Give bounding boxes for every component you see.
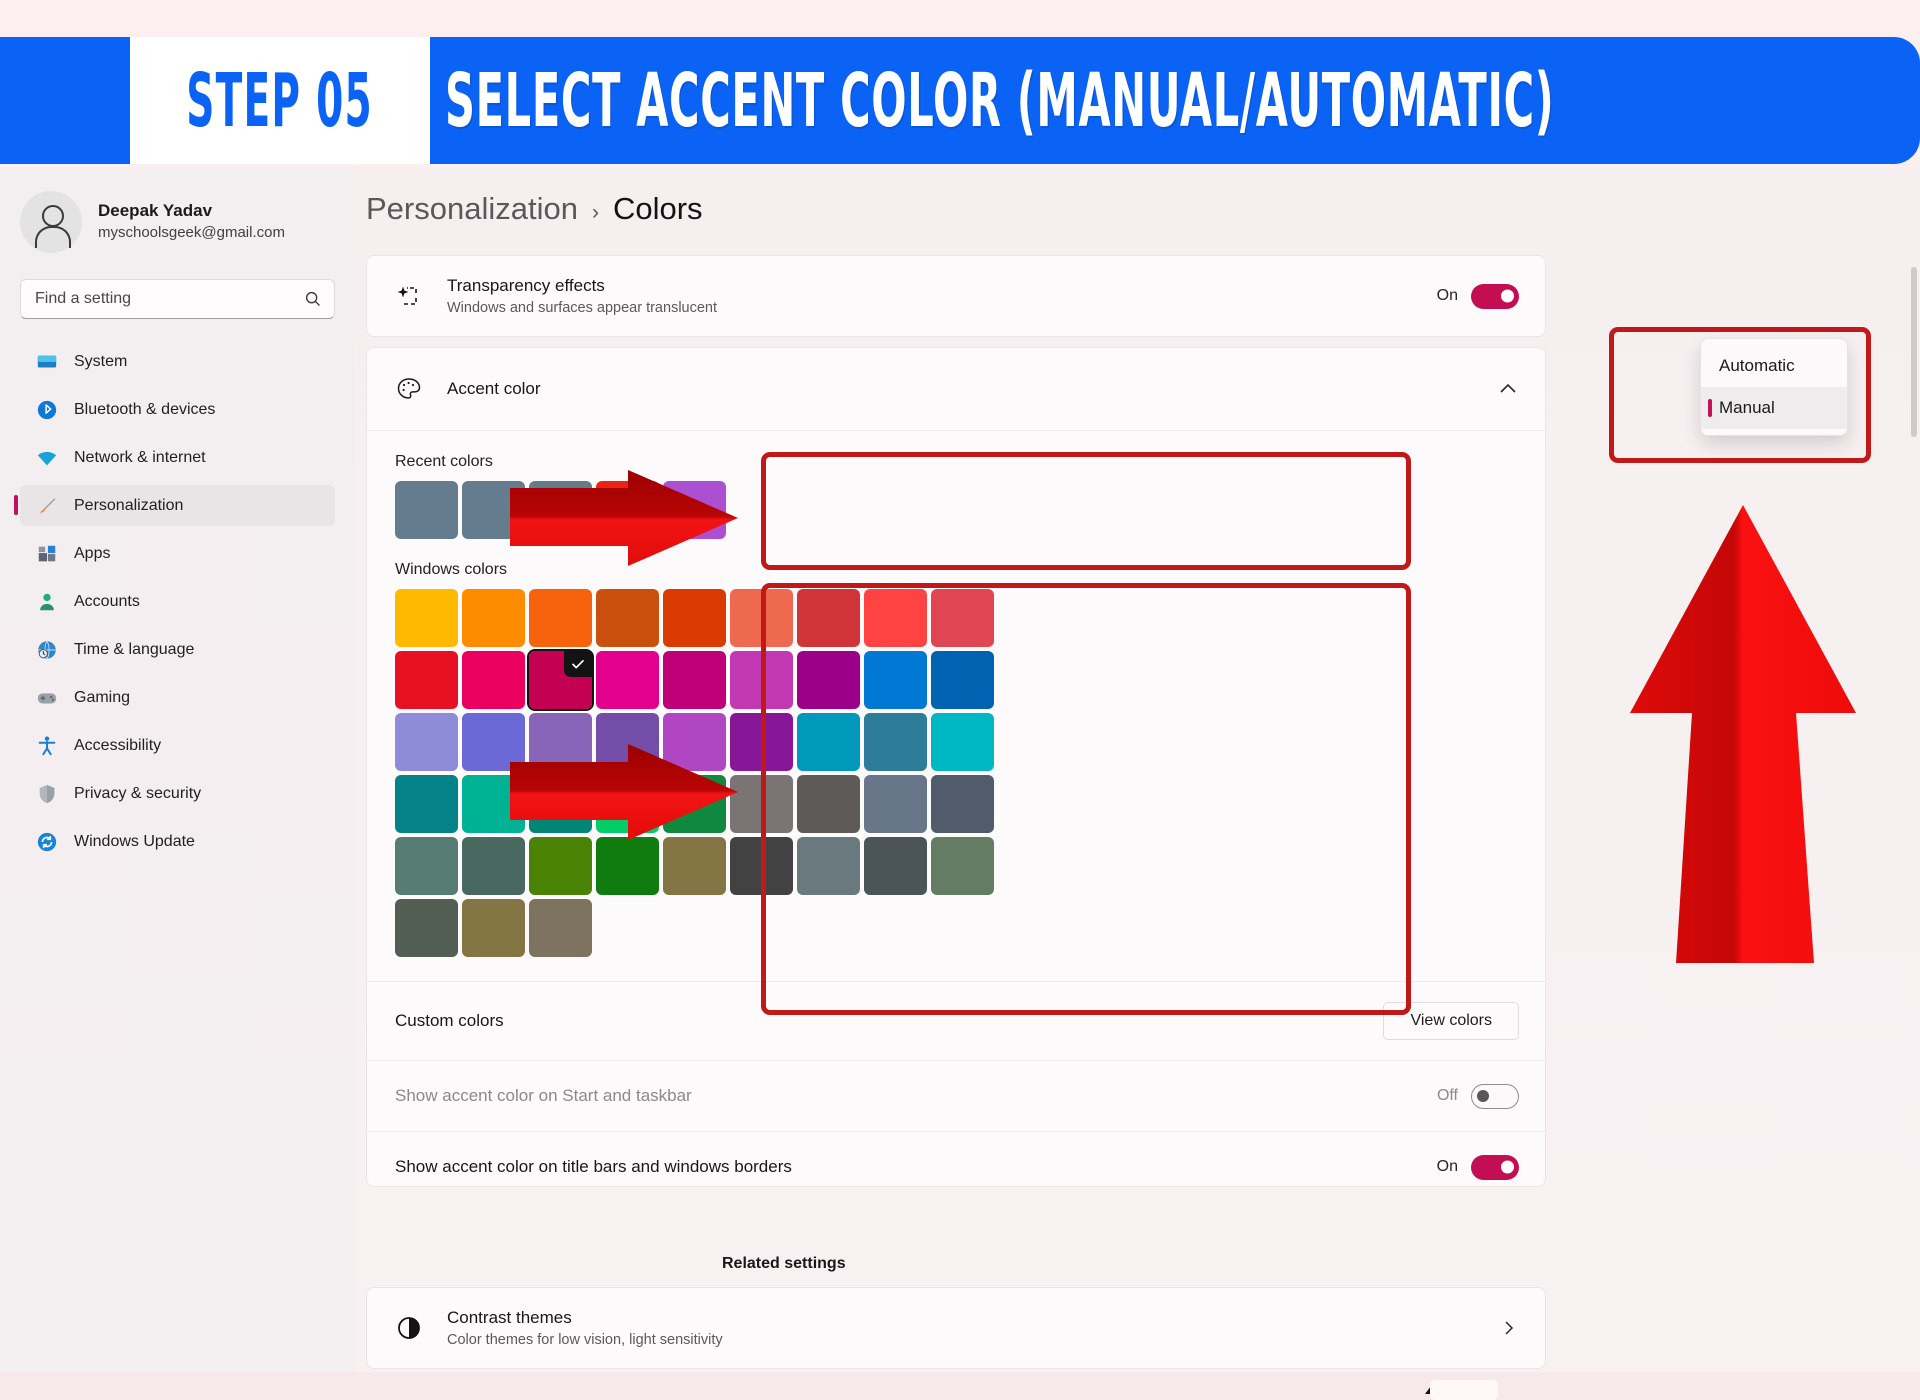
windows-color-swatch[interactable]	[864, 589, 927, 647]
avatar	[20, 191, 82, 253]
windows-color-swatch[interactable]	[931, 713, 994, 771]
bluetooth-icon	[36, 399, 58, 421]
sparkle-frame-icon	[395, 282, 423, 310]
windows-color-swatch[interactable]	[797, 651, 860, 709]
search-icon	[304, 290, 322, 308]
windows-color-swatch[interactable]	[797, 713, 860, 771]
windows-color-swatch[interactable]	[663, 589, 726, 647]
windows-color-swatch[interactable]	[529, 899, 592, 957]
wifi-icon	[36, 447, 58, 469]
scrollbar-thumb[interactable]	[1911, 267, 1917, 437]
gamepad-icon	[36, 687, 58, 709]
accent-color-title: Accent color	[447, 377, 1497, 401]
transparency-effects-row[interactable]: Transparency effects Windows and surface…	[367, 256, 1545, 336]
windows-color-swatch[interactable]	[797, 589, 860, 647]
contrast-themes-card[interactable]: Contrast themes Color themes for low vis…	[366, 1287, 1546, 1369]
contrast-themes-row[interactable]: Contrast themes Color themes for low vis…	[367, 1288, 1545, 1368]
windows-color-swatch[interactable]	[931, 589, 994, 647]
windows-color-swatch[interactable]	[596, 651, 659, 709]
sidebar-item-windows-update[interactable]: Windows Update	[20, 821, 335, 862]
sidebar-nav: System Bluetooth & devices Network & int…	[0, 341, 355, 862]
windows-color-swatch[interactable]	[395, 837, 458, 895]
windows-color-swatch[interactable]	[395, 713, 458, 771]
windows-color-swatch[interactable]	[730, 837, 793, 895]
windows-color-swatch[interactable]	[730, 589, 793, 647]
windows-color-swatch[interactable]	[529, 837, 592, 895]
accessibility-icon	[36, 735, 58, 757]
start-taskbar-toggle[interactable]	[1471, 1084, 1519, 1109]
step-number-badge: STEP 05	[130, 37, 430, 164]
profile-email: myschoolsgeek@gmail.com	[98, 223, 285, 243]
breadcrumb-parent[interactable]: Personalization	[366, 191, 578, 227]
start-taskbar-row[interactable]: Show accent color on Start and taskbar O…	[367, 1061, 1545, 1131]
sidebar-item-label: Gaming	[74, 689, 130, 707]
sidebar-item-label: Personalization	[74, 497, 183, 515]
sidebar-item-apps[interactable]: Apps	[20, 533, 335, 574]
taskbar-strip	[0, 1372, 1920, 1400]
profile-name: Deepak Yadav	[98, 200, 285, 223]
title-bars-toggle[interactable]	[1471, 1155, 1519, 1180]
sidebar-item-label: System	[74, 353, 127, 371]
windows-color-swatch[interactable]	[462, 651, 525, 709]
windows-color-swatch[interactable]	[395, 775, 458, 833]
dropdown-option-automatic[interactable]: Automatic	[1701, 345, 1847, 387]
banner-title: SELECT ACCENT COLOR (MANUAL/AUTOMATIC)	[445, 37, 1920, 164]
windows-color-swatch[interactable]	[864, 775, 927, 833]
sidebar-item-label: Network & internet	[74, 449, 206, 467]
check-icon	[564, 651, 592, 677]
windows-color-swatch[interactable]	[395, 899, 458, 957]
sidebar-item-network-internet[interactable]: Network & internet	[20, 437, 335, 478]
sidebar-item-label: Privacy & security	[74, 785, 201, 803]
step-banner: STEP 05 SELECT ACCENT COLOR (MANUAL/AUTO…	[0, 37, 1920, 164]
sidebar-item-accounts[interactable]: Accounts	[20, 581, 335, 622]
annotation-arrow-recent-colors	[510, 468, 740, 568]
chevron-up-icon[interactable]	[1497, 378, 1519, 400]
windows-color-swatch[interactable]	[730, 651, 793, 709]
windows-color-swatch[interactable]	[931, 651, 994, 709]
paintbrush-icon	[36, 495, 58, 517]
sidebar-item-system[interactable]: System	[20, 341, 335, 382]
contrast-themes-title: Contrast themes	[447, 1306, 1499, 1330]
sidebar: Deepak Yadav myschoolsgeek@gmail.com Sys…	[0, 167, 355, 1372]
windows-color-swatch[interactable]	[931, 837, 994, 895]
related-settings-heading: Related settings	[722, 1255, 846, 1273]
apps-icon	[36, 543, 58, 565]
title-bars-label: Show accent color on title bars and wind…	[395, 1155, 1437, 1179]
windows-color-swatch[interactable]	[931, 775, 994, 833]
windows-color-swatch[interactable]	[663, 651, 726, 709]
view-colors-button[interactable]: View colors	[1383, 1002, 1519, 1040]
windows-color-swatch[interactable]	[395, 651, 458, 709]
sidebar-item-personalization[interactable]: Personalization	[20, 485, 335, 526]
sidebar-item-label: Accounts	[74, 593, 140, 611]
person-icon	[36, 591, 58, 613]
start-taskbar-toggle-label: Off	[1437, 1087, 1458, 1105]
shield-icon	[36, 783, 58, 805]
sidebar-item-label: Bluetooth & devices	[74, 401, 215, 419]
taskbar-pill[interactable]	[1430, 1380, 1498, 1400]
sidebar-item-privacy-security[interactable]: Privacy & security	[20, 773, 335, 814]
search-box[interactable]	[20, 279, 335, 319]
transparency-subtitle: Windows and surfaces appear translucent	[447, 298, 1437, 318]
user-profile[interactable]: Deepak Yadav myschoolsgeek@gmail.com	[0, 167, 355, 253]
step-number-label: STEP 05	[187, 57, 374, 143]
transparency-title: Transparency effects	[447, 274, 1437, 298]
custom-colors-label: Custom colors	[395, 1009, 1383, 1033]
transparency-toggle-label: On	[1437, 287, 1458, 305]
breadcrumb: Personalization › Colors	[366, 191, 703, 227]
windows-color-swatch[interactable]	[462, 589, 525, 647]
transparency-toggle[interactable]	[1471, 284, 1519, 309]
windows-color-swatch[interactable]	[797, 837, 860, 895]
title-bars-toggle-label: On	[1437, 1158, 1458, 1176]
palette-icon	[395, 375, 423, 403]
contrast-icon	[395, 1314, 423, 1342]
windows-color-swatch[interactable]	[529, 651, 592, 709]
windows-color-swatch[interactable]	[462, 899, 525, 957]
accent-mode-dropdown[interactable]: Automatic Manual	[1700, 338, 1848, 436]
windows-color-swatch[interactable]	[596, 837, 659, 895]
chevron-right-icon[interactable]	[1499, 1318, 1519, 1338]
search-input[interactable]	[35, 290, 304, 308]
custom-colors-row: Custom colors View colors	[367, 982, 1545, 1060]
windows-color-swatch[interactable]	[529, 589, 592, 647]
sidebar-item-accessibility[interactable]: Accessibility	[20, 725, 335, 766]
accent-color-row[interactable]: Accent color	[367, 348, 1545, 430]
update-icon	[36, 831, 58, 853]
recent-color-swatch[interactable]	[395, 481, 458, 539]
page-title: Colors	[613, 191, 703, 227]
windows-color-swatch[interactable]	[864, 713, 927, 771]
start-taskbar-label: Show accent color on Start and taskbar	[395, 1084, 1437, 1108]
sidebar-item-time-language[interactable]: Time & language	[20, 629, 335, 670]
sidebar-item-label: Accessibility	[74, 737, 161, 755]
windows-color-swatch[interactable]	[462, 837, 525, 895]
chevron-right-icon: ›	[592, 201, 599, 225]
contrast-themes-subtitle: Color themes for low vision, light sensi…	[447, 1330, 1499, 1350]
annotation-arrow-up-mode	[1628, 505, 1858, 963]
transparency-effects-card: Transparency effects Windows and surface…	[366, 255, 1546, 337]
banner-title-label: SELECT ACCENT COLOR (MANUAL/AUTOMATIC)	[445, 57, 1554, 143]
title-bars-row[interactable]: Show accent color on title bars and wind…	[367, 1132, 1545, 1202]
sidebar-item-label: Windows Update	[74, 833, 195, 851]
windows-color-swatch[interactable]	[864, 837, 927, 895]
windows-color-swatch[interactable]	[663, 837, 726, 895]
windows-color-swatch[interactable]	[864, 651, 927, 709]
annotation-arrow-windows-colors	[510, 742, 740, 842]
monitor-icon	[36, 351, 58, 373]
windows-color-swatch[interactable]	[596, 589, 659, 647]
sidebar-item-bluetooth-devices[interactable]: Bluetooth & devices	[20, 389, 335, 430]
sidebar-item-gaming[interactable]: Gaming	[20, 677, 335, 718]
sidebar-item-label: Apps	[74, 545, 110, 563]
windows-color-swatch[interactable]	[797, 775, 860, 833]
clock-globe-icon	[36, 639, 58, 661]
sidebar-item-label: Time & language	[74, 641, 194, 659]
dropdown-option-manual[interactable]: Manual	[1701, 387, 1847, 429]
windows-color-swatch[interactable]	[395, 589, 458, 647]
